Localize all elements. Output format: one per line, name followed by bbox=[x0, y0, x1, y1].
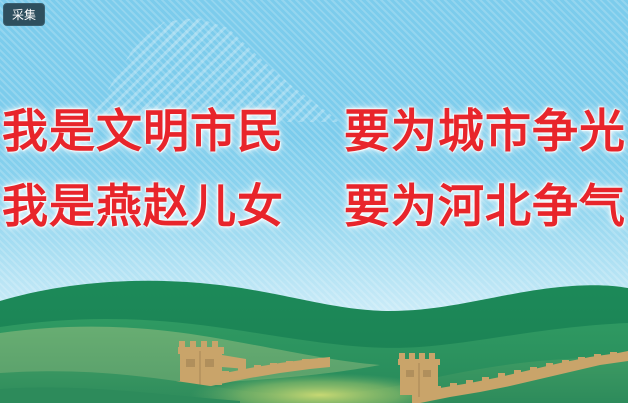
slogan-line-2-left: 我是燕赵儿女 bbox=[2, 183, 284, 229]
slogan-line-1: 我是文明市民 要为城市争光 bbox=[0, 108, 628, 154]
landscape-illustration bbox=[0, 255, 628, 403]
slogan-line-2-right: 要为河北争气 bbox=[344, 183, 626, 229]
slogan-line-1-left: 我是文明市民 bbox=[2, 108, 284, 154]
banner-image: 我是文明市民 要为城市争光 我是燕赵儿女 要为河北争气 采集 bbox=[0, 0, 628, 403]
slogan-line-1-right: 要为城市争光 bbox=[344, 108, 626, 154]
slogan-line-2: 我是燕赵儿女 要为河北争气 bbox=[0, 183, 628, 229]
capture-button[interactable]: 采集 bbox=[3, 3, 45, 26]
